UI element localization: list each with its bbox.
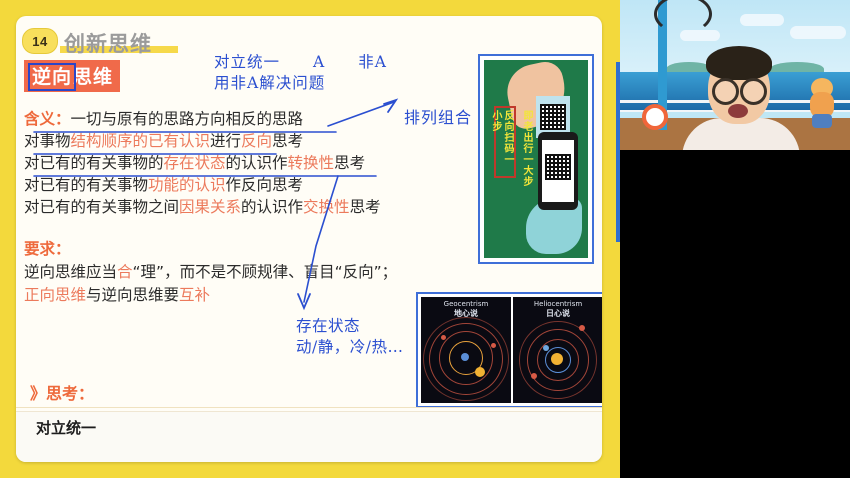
line1-highlight-2: 反向 <box>241 132 272 150</box>
requirement-label: 要求： <box>24 238 454 261</box>
req1-part-a: 逆向思维应当 <box>24 263 117 281</box>
bullet-line-4: 对已有的有关事物之间因果关系的认识作交换性思考 <box>24 196 464 218</box>
life-ring <box>642 104 668 130</box>
poster-plain-text: 即老出行一大步 <box>510 110 532 230</box>
line2-highlight-1: 存在状态 <box>164 154 226 172</box>
line4-highlight-2: 交换性 <box>303 198 350 216</box>
glasses-right-lens-icon <box>740 78 767 105</box>
bullet-line-2: 对已有的有关事物的存在状态的认识作转换性思考 <box>24 152 464 174</box>
heading-rest-word: 思维 <box>73 66 113 88</box>
astronomy-panes: Geocentrism 地心说 Heliocentrism 日心说 <box>421 297 602 403</box>
section-heading-reverse-thinking: 逆向思维 <box>24 60 120 92</box>
annotation-exist-line-1: 存在状态 <box>296 316 403 337</box>
req2-highlight-2: 互补 <box>179 286 210 304</box>
heading-marked-word: 逆向 <box>31 66 73 88</box>
geocentrism-en: Geocentrism <box>444 300 489 308</box>
line2-part-b: 的认识作 <box>226 154 288 172</box>
line2-part-a: 对已有的有关事物的 <box>24 154 164 172</box>
req2-highlight-1: 正向思维 <box>24 286 86 304</box>
bullet-line-1: 对事物结构顺序的已有认识进行反向思考 <box>24 130 464 152</box>
slide-title: 创新思维 <box>64 28 152 58</box>
line3-highlight-1: 功能的认识 <box>148 176 226 194</box>
page-title: 创新思维 <box>64 28 152 58</box>
planet-dot <box>441 335 446 340</box>
line1-highlight-1: 结构顺序的已有认识 <box>71 132 211 150</box>
heliocentrism-zh: 日心说 <box>513 309 602 318</box>
cloud <box>790 26 846 39</box>
think-section <box>16 411 602 462</box>
qr-poster-inner: 反向扫码一小步 即老出行一大步 <box>484 60 588 258</box>
line4-part-b: 的认识作 <box>241 198 303 216</box>
annotation-opposition-unity: 对立统一 A 非A 用非A解决问题 <box>214 52 387 94</box>
definition-line: 含义：一切与原有的思路方向相反的思路 <box>24 108 464 130</box>
heliocentrism-caption: Heliocentrism 日心说 <box>513 300 602 318</box>
definition-text: 一切与原有的思路方向相反的思路 <box>71 110 304 128</box>
geocentrism-caption: Geocentrism 地心说 <box>421 300 511 318</box>
line1-part-c: 思考 <box>272 132 303 150</box>
line1-part-b: 进行 <box>210 132 241 150</box>
annotation-existence-state: 存在状态 动/静，冷/热… <box>296 316 403 358</box>
qr-scan-poster-image: 反向扫码一小步 即老出行一大步 <box>478 54 594 264</box>
sun-dot <box>551 353 563 365</box>
heliocentrism-pane: Heliocentrism 日心说 <box>513 297 602 403</box>
empty-black-panel <box>620 150 850 478</box>
phone-screen <box>542 140 574 202</box>
planet-dot <box>543 345 549 351</box>
think-label: 》思考： <box>30 380 94 404</box>
qr-code-pattern-large <box>545 154 571 180</box>
screen: 14 创新思维 逆向思维 含义：一切与原有的思路方向相反的思路 对事物结构顺序的… <box>0 0 850 478</box>
geocentrism-pane: Geocentrism 地心说 <box>421 297 511 403</box>
cloud <box>740 14 784 26</box>
page-number-badge: 14 <box>22 28 58 54</box>
line4-highlight-1: 因果关系 <box>179 198 241 216</box>
annotation-line-2: 用非A解决问题 <box>214 73 387 94</box>
planet-dot <box>491 343 496 348</box>
requirement-block: 要求： 逆向思维应当合“理”，而不是不顾规律、盲目“反向”； 正向思维与逆向思维… <box>24 238 454 307</box>
req1-highlight: 合 <box>117 263 133 281</box>
definition-block: 含义：一切与原有的思路方向相反的思路 对事物结构顺序的已有认识进行反向思考 对已… <box>24 108 464 218</box>
req2-middle: 与逆向思维要 <box>86 286 179 304</box>
astronomy-diagram-image: Geocentrism 地心说 Heliocentrism 日心说 <box>416 292 602 408</box>
req1-part-b: “理”，而不是不顾规律、盲目“反向”； <box>133 263 398 281</box>
teacher-mouth <box>728 104 748 118</box>
line3-part-a: 对已有的有关事物 <box>24 176 148 194</box>
line2-part-c: 思考 <box>334 154 365 172</box>
planet-dot <box>579 325 585 331</box>
requirement-line-2: 正向思维与逆向思维要互补 <box>24 284 454 307</box>
teacher-video-feed[interactable] <box>620 0 850 150</box>
line4-part-a: 对已有的有关事物之间 <box>24 198 179 216</box>
think-divider <box>16 407 602 408</box>
phone-illustration <box>538 132 578 210</box>
qr-code-pattern-small <box>540 104 566 130</box>
planet-dot <box>531 373 537 379</box>
annotation-exist-line-2: 动/静，冷/热… <box>296 337 403 358</box>
think-answer: 对立统一 <box>36 417 96 438</box>
requirement-line-1: 逆向思维应当合“理”，而不是不顾规律、盲目“反向”； <box>24 261 454 284</box>
line2-highlight-2: 转换性 <box>288 154 335 172</box>
teacher-hair <box>706 46 772 80</box>
cartoon-fox-mascot <box>804 78 840 128</box>
planet-dot <box>461 353 469 361</box>
bullet-line-3: 对已有的有关事物功能的认识作反向思考 <box>24 174 464 196</box>
line1-part-a: 对事物 <box>24 132 71 150</box>
annotation-permutation: 排列组合 <box>404 104 472 128</box>
line4-part-c: 思考 <box>350 198 381 216</box>
line3-part-b: 作反向思考 <box>226 176 304 194</box>
definition-label: 含义： <box>24 110 71 128</box>
sun-dot <box>475 367 485 377</box>
annotation-line-1: 对立统一 A 非A <box>214 52 387 73</box>
slide-card: 14 创新思维 逆向思维 含义：一切与原有的思路方向相反的思路 对事物结构顺序的… <box>16 16 602 462</box>
heliocentrism-en: Heliocentrism <box>534 300 582 308</box>
glasses-left-lens-icon <box>712 78 739 105</box>
